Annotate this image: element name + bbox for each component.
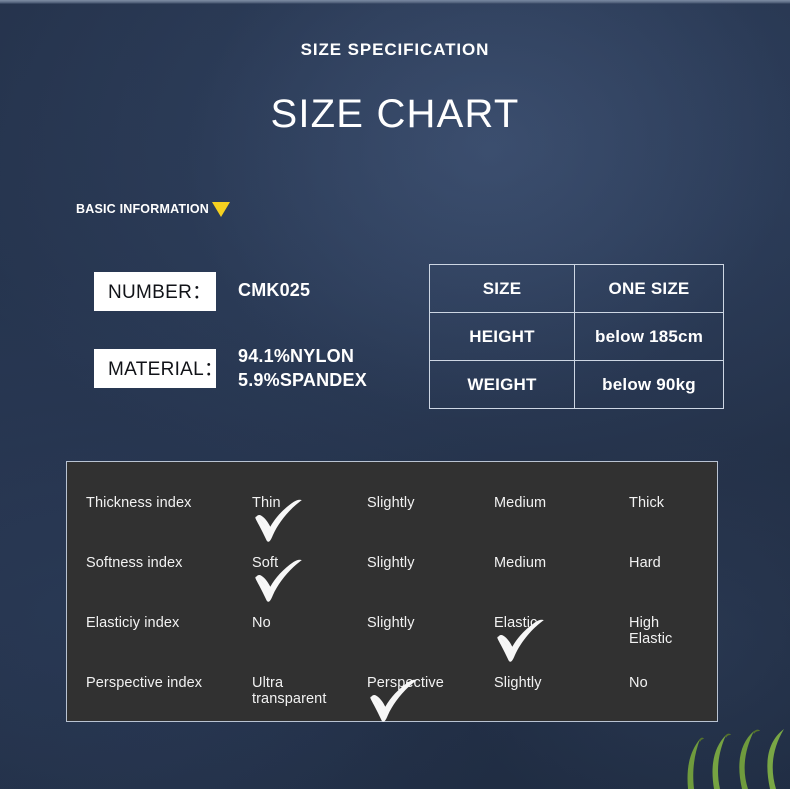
size-table-value-weight: below 90kg bbox=[575, 361, 724, 409]
spec-value-material: 94.1%NYLON 5.9%SPANDEX bbox=[238, 344, 367, 392]
triangle-down-icon bbox=[212, 202, 230, 217]
index-option[interactable]: High Elastic bbox=[629, 615, 672, 647]
page-kicker: SIZE SPECIFICATION bbox=[0, 40, 790, 60]
background-sheen-upper bbox=[124, 0, 790, 487]
index-option[interactable]: Slightly bbox=[367, 555, 415, 571]
size-table-key-weight: WEIGHT bbox=[430, 361, 575, 409]
table-row: SIZE ONE SIZE bbox=[430, 265, 724, 313]
index-option[interactable]: No bbox=[252, 615, 271, 631]
index-option[interactable]: Slightly bbox=[367, 615, 415, 631]
size-table-value-height: below 185cm bbox=[575, 313, 724, 361]
index-option[interactable]: Thin bbox=[252, 495, 281, 511]
spec-label-number: NUMBER： bbox=[94, 272, 216, 311]
index-option[interactable]: Hard bbox=[629, 555, 661, 571]
index-label: Softness index bbox=[86, 555, 183, 571]
page-title: SIZE CHART bbox=[0, 92, 790, 137]
top-edge-strip bbox=[0, 0, 790, 4]
index-option[interactable]: Medium bbox=[494, 495, 546, 511]
index-panel: Thickness index Thin Slightly Medium Thi… bbox=[66, 461, 718, 722]
spec-label-material: MATERIAL： bbox=[94, 349, 216, 388]
basic-information-label: BASIC INFORMATION bbox=[76, 202, 209, 216]
index-row-elasticity: Elasticiy index No Slightly Elastic High… bbox=[67, 605, 719, 665]
index-option[interactable]: Thick bbox=[629, 495, 664, 511]
index-row-perspective: Perspective index Ultra transparent Pers… bbox=[67, 665, 719, 725]
size-table-value-size: ONE SIZE bbox=[575, 265, 724, 313]
grass-decoration bbox=[670, 709, 790, 789]
index-option[interactable]: Slightly bbox=[494, 675, 542, 691]
spec-row-number: NUMBER： CMK025 bbox=[94, 272, 216, 311]
table-row: HEIGHT below 185cm bbox=[430, 313, 724, 361]
index-label: Perspective index bbox=[86, 675, 202, 691]
index-label: Thickness index bbox=[86, 495, 191, 511]
index-option[interactable]: Slightly bbox=[367, 495, 415, 511]
size-table: SIZE ONE SIZE HEIGHT below 185cm WEIGHT … bbox=[429, 264, 724, 409]
index-option[interactable]: Soft bbox=[252, 555, 278, 571]
basic-information-heading: BASIC INFORMATION bbox=[76, 200, 230, 217]
index-option[interactable]: Ultra transparent bbox=[252, 675, 326, 707]
index-row-thickness: Thickness index Thin Slightly Medium Thi… bbox=[67, 485, 719, 545]
spec-value-number: CMK025 bbox=[238, 278, 310, 302]
index-row-softness: Softness index Soft Slightly Medium Hard bbox=[67, 545, 719, 605]
size-table-key-height: HEIGHT bbox=[430, 313, 575, 361]
spec-row-material: MATERIAL： 94.1%NYLON 5.9%SPANDEX bbox=[94, 349, 216, 388]
size-table-key-size: SIZE bbox=[430, 265, 575, 313]
index-option[interactable]: No bbox=[629, 675, 648, 691]
index-option[interactable]: Elastic bbox=[494, 615, 537, 631]
index-option[interactable]: Perspective bbox=[367, 675, 444, 691]
size-chart-page: SIZE SPECIFICATION SIZE CHART BASIC INFO… bbox=[0, 0, 790, 789]
index-option[interactable]: Medium bbox=[494, 555, 546, 571]
table-row: WEIGHT below 90kg bbox=[430, 361, 724, 409]
index-label: Elasticiy index bbox=[86, 615, 179, 631]
